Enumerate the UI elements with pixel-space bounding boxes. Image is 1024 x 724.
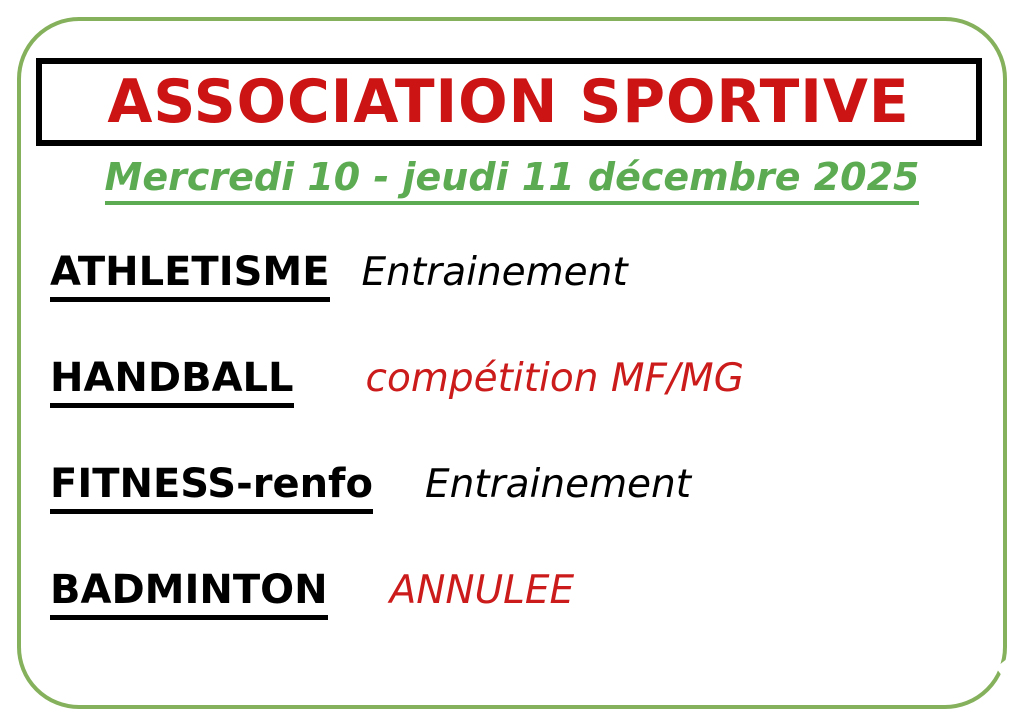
activity-row-fitness-renfo: FITNESS-renfo Entrainement — [50, 464, 950, 570]
activity-status-handball: compétition MF/MG — [366, 358, 744, 398]
date-range-subtitle: Mercredi 10 - jeudi 11 décembre 2025 — [105, 157, 920, 205]
poster-root: ASSOCIATION SPORTIVE Mercredi 10 - jeudi… — [0, 0, 1024, 724]
activity-label-badminton: BADMINTON — [50, 570, 328, 620]
page-title: ASSOCIATION SPORTIVE — [108, 72, 910, 132]
activity-label-athletisme: ATHLETISME — [50, 252, 330, 302]
activity-row-athletisme: ATHLETISME Entrainement — [50, 252, 950, 358]
title-box: ASSOCIATION SPORTIVE — [36, 58, 982, 146]
activity-list: ATHLETISME Entrainement HANDBALL compéti… — [50, 252, 950, 676]
subtitle-container: Mercredi 10 - jeudi 11 décembre 2025 — [0, 157, 1024, 205]
activity-label-fitness-renfo: FITNESS-renfo — [50, 464, 373, 514]
activity-row-handball: HANDBALL compétition MF/MG — [50, 358, 950, 464]
activity-status-fitness-renfo: Entrainement — [425, 464, 691, 504]
frame-corner-gap — [996, 658, 1024, 688]
activity-status-badminton: ANNULEE — [390, 570, 575, 610]
activity-status-athletisme: Entrainement — [362, 252, 628, 292]
activity-row-badminton: BADMINTON ANNULEE — [50, 570, 950, 676]
activity-label-handball: HANDBALL — [50, 358, 294, 408]
